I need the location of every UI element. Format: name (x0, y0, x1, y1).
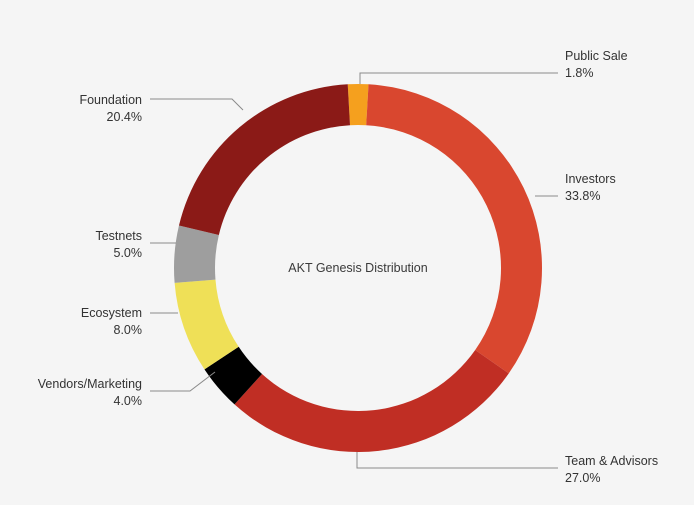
donut-chart-svg: Public Sale1.8%Investors33.8%Team & Advi… (0, 0, 694, 505)
slice-label-name-investors: Investors (565, 172, 616, 186)
slice-label-value-public-sale: 1.8% (565, 66, 594, 80)
slice-label-name-vendors-marketing: Vendors/Marketing (38, 377, 142, 391)
slice-label-value-ecosystem: 8.0% (114, 323, 143, 337)
slice-label-value-team-advisors: 27.0% (565, 471, 600, 485)
pie-slice-testnets[interactable] (174, 225, 219, 282)
slice-label-name-foundation: Foundation (79, 93, 142, 107)
slice-label-name-team-advisors: Team & Advisors (565, 454, 658, 468)
slice-label-value-testnets: 5.0% (114, 246, 143, 260)
slice-label-name-public-sale: Public Sale (565, 49, 628, 63)
slice-label-value-vendors-marketing: 4.0% (114, 394, 143, 408)
donut-chart-container: Public Sale1.8%Investors33.8%Team & Advi… (0, 0, 694, 505)
slice-label-name-testnets: Testnets (95, 229, 142, 243)
pie-slice-public-sale[interactable] (348, 84, 369, 125)
slice-label-value-investors: 33.8% (565, 189, 600, 203)
slice-label-name-ecosystem: Ecosystem (81, 306, 142, 320)
slice-label-value-foundation: 20.4% (107, 110, 142, 124)
center-title: AKT Genesis Distribution (288, 261, 427, 275)
